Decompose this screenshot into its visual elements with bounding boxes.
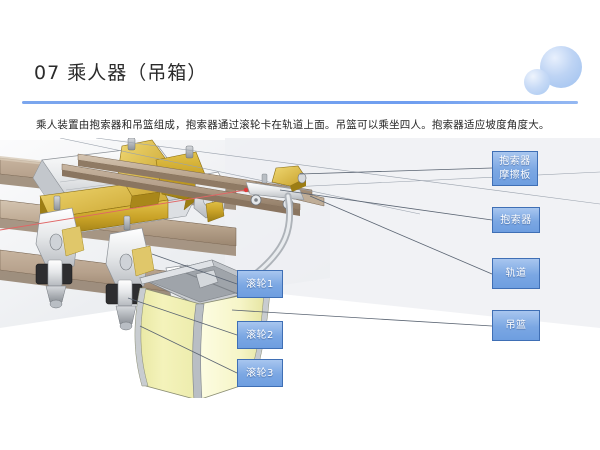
callout-friction-plate-line2: 摩擦板 — [499, 169, 531, 183]
callout-roller-2-label: 滚轮2 — [246, 329, 274, 342]
callout-roller-3[interactable]: 滚轮3 — [237, 359, 283, 387]
page-title: 07 乘人器（吊箱） — [34, 58, 207, 85]
callout-track[interactable]: 轨道 — [492, 258, 540, 289]
title-divider — [22, 101, 578, 104]
slide-canvas: 07 乘人器（吊箱） 乘人装置由抱索器和吊篮组成，抱索器通过滚轮卡在轨道上面。吊… — [0, 0, 600, 450]
header-decoration — [508, 38, 592, 104]
callout-friction-plate[interactable]: 抱索器 摩擦板 — [492, 151, 538, 186]
slide-subtitle: 乘人装置由抱索器和吊篮组成，抱索器通过滚轮卡在轨道上面。吊篮可以乘坐四人。抱索器… — [36, 117, 576, 132]
callout-roller-1[interactable]: 滚轮1 — [237, 270, 283, 298]
callout-cabin-label: 吊篮 — [506, 319, 527, 332]
callout-track-label: 轨道 — [506, 267, 527, 280]
small-blue-circle-icon — [524, 69, 550, 95]
callout-roller-3-label: 滚轮3 — [246, 367, 274, 380]
callout-cabin[interactable]: 吊篮 — [492, 310, 540, 341]
large-blue-circle-icon — [540, 46, 582, 88]
callout-grip[interactable]: 抱索器 — [492, 207, 540, 233]
callout-grip-label: 抱索器 — [500, 214, 532, 227]
red-reference-point — [244, 188, 248, 192]
callout-roller-2[interactable]: 滚轮2 — [237, 321, 283, 349]
callout-friction-plate-line1: 抱索器 — [499, 155, 531, 169]
callout-roller-1-label: 滚轮1 — [246, 278, 274, 291]
